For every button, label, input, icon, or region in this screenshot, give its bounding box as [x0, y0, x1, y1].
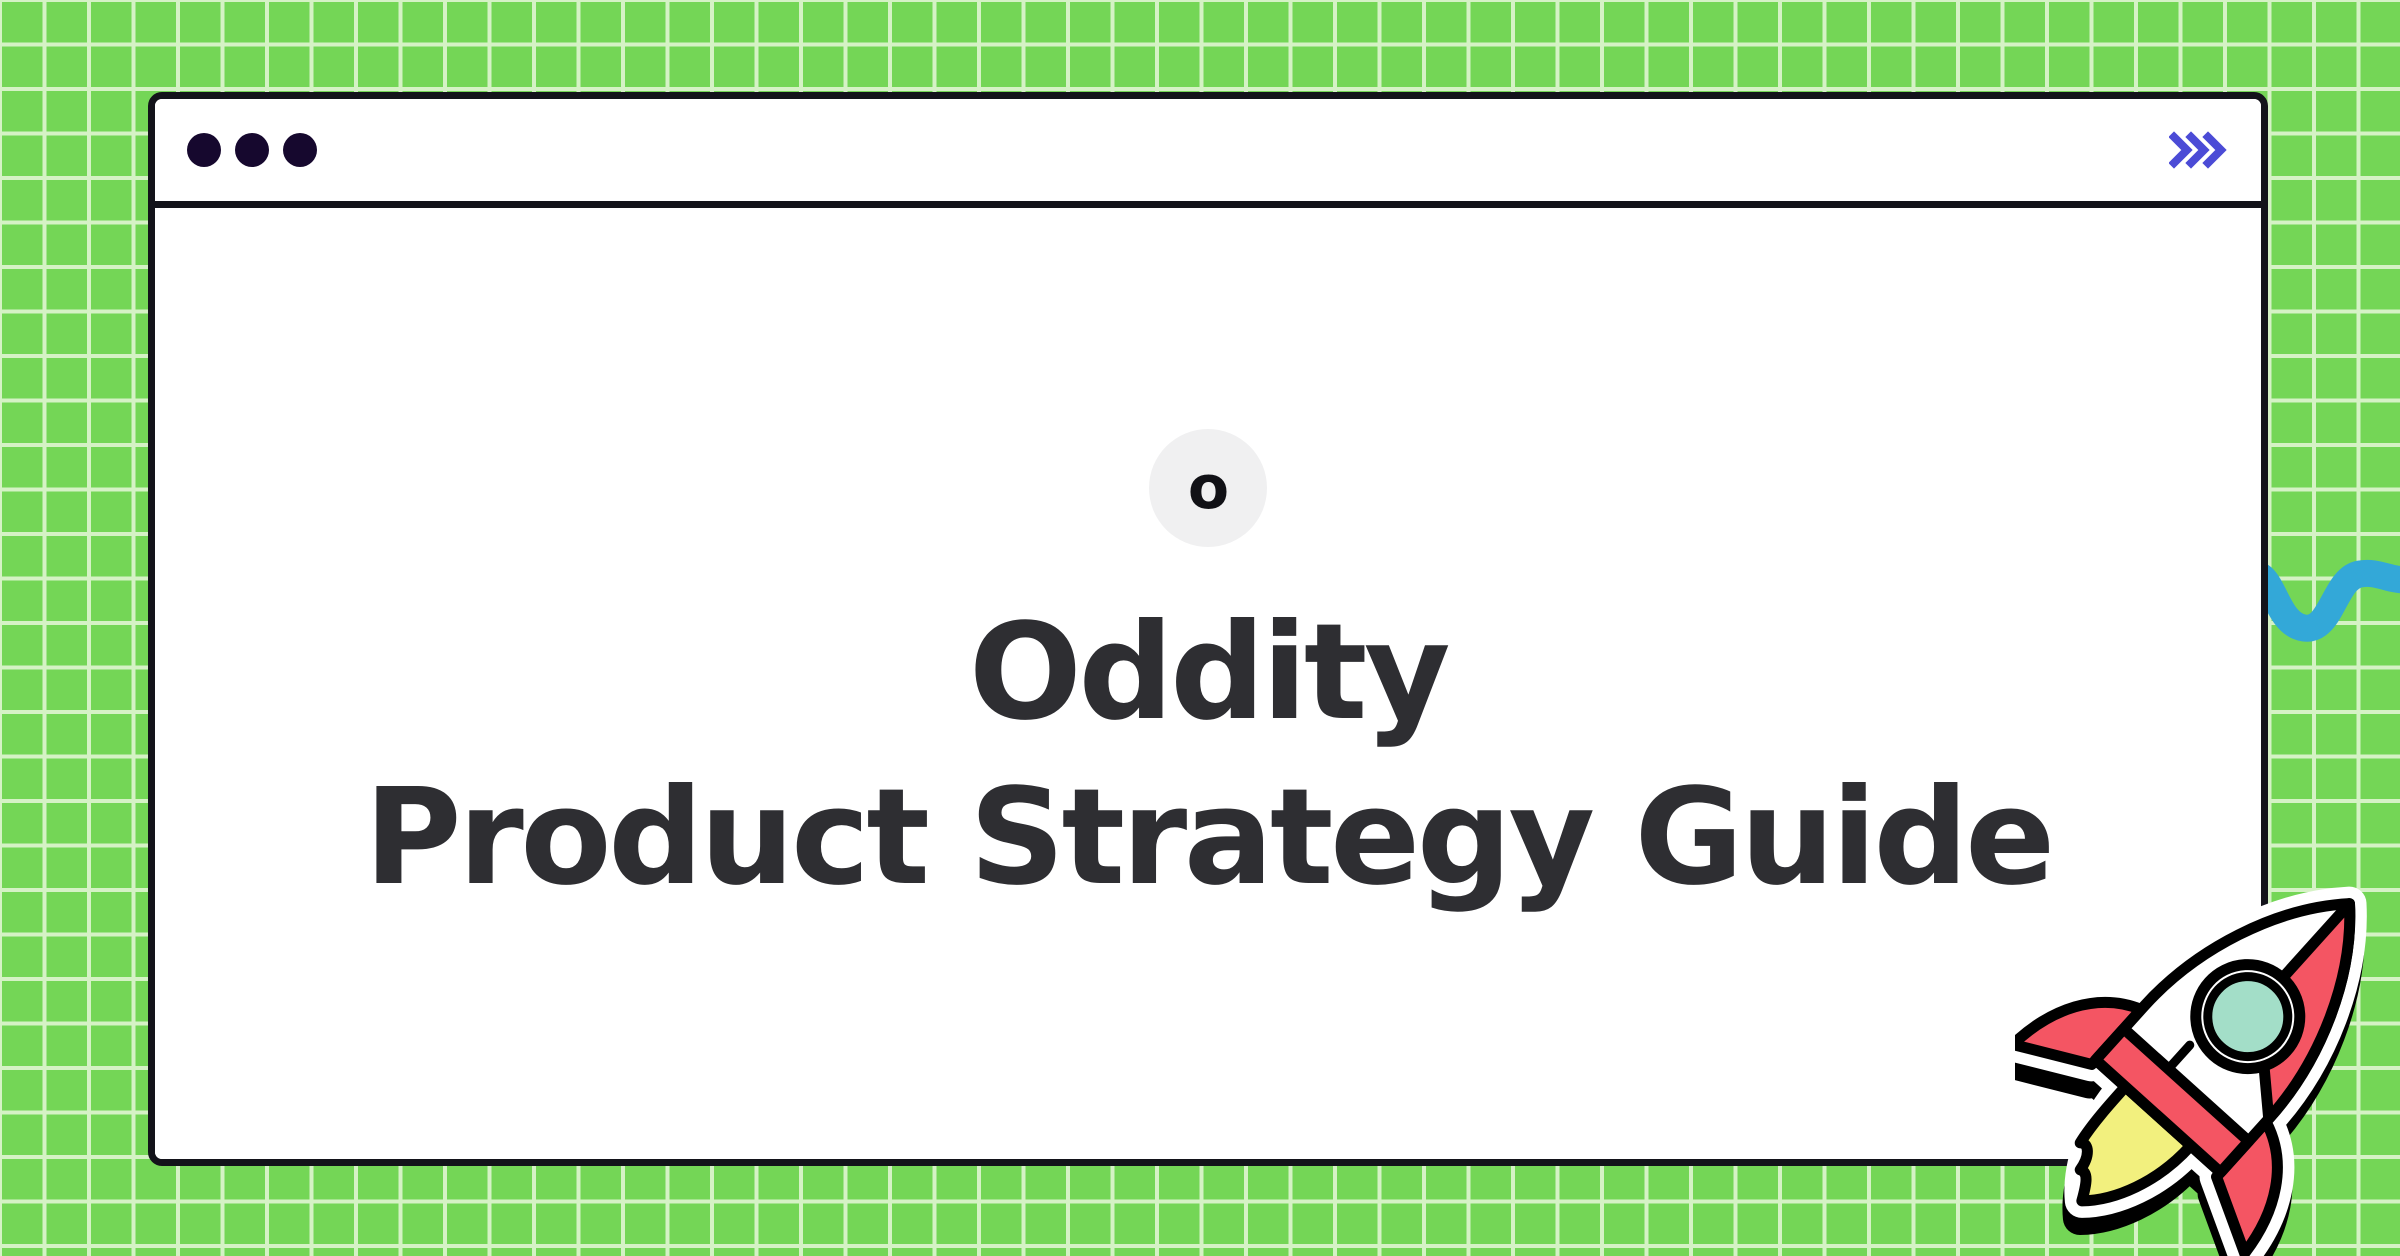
- triple-chevron-right-icon[interactable]: [2169, 130, 2231, 170]
- brand-logo-letter: o: [1188, 458, 1228, 518]
- minimize-dot[interactable]: [235, 133, 269, 167]
- page-title: Oddity Product Strategy Guide: [364, 591, 2052, 921]
- slide-content-area: o Oddity Product Strategy Guide: [155, 208, 2261, 1159]
- maximize-dot[interactable]: [283, 133, 317, 167]
- window-control-dots: [187, 133, 317, 167]
- wave-squiggle-icon: [2260, 540, 2400, 670]
- browser-window-card: o Oddity Product Strategy Guide: [148, 92, 2268, 1166]
- slide-canvas: o Oddity Product Strategy Guide: [0, 0, 2400, 1256]
- browser-title-bar: [155, 99, 2261, 208]
- brand-logo-badge: o: [1149, 429, 1267, 547]
- close-dot[interactable]: [187, 133, 221, 167]
